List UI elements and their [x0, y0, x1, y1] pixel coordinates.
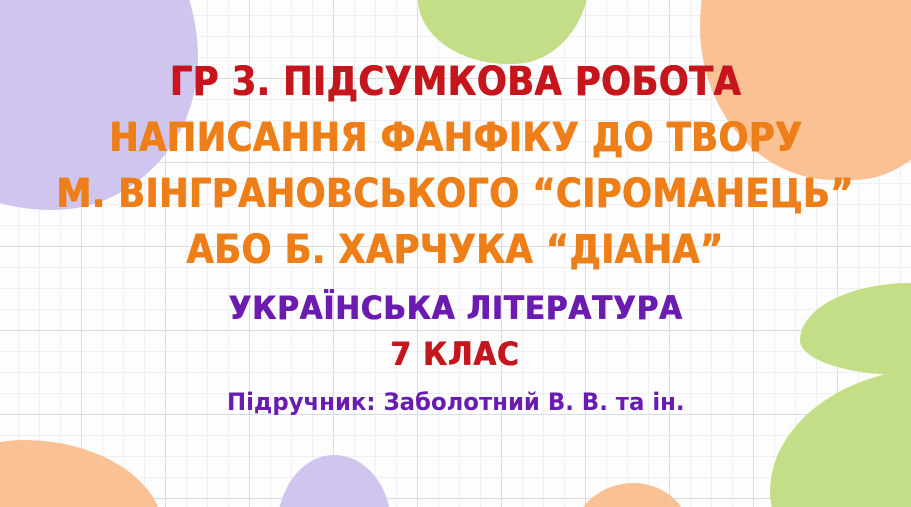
grade-label: 7 КЛАС	[391, 338, 520, 370]
subject-label: УКРАЇНСЬКА ЛІТЕРАТУРА	[228, 292, 682, 324]
title-line-1: ГР 3. ПІДСУМКОВА РОБОТА	[170, 62, 741, 102]
presentation-slide: ГР 3. ПІДСУМКОВА РОБОТА НАПИСАННЯ ФАНФІК…	[0, 0, 911, 507]
title-line-3: М. ВІНГРАНОВСЬКОГО “СІРОМАНЕЦЬ”	[57, 174, 855, 214]
title-line-2: НАПИСАННЯ ФАНФІКУ ДО ТВОРУ	[109, 118, 802, 158]
slide-content: ГР 3. ПІДСУМКОВА РОБОТА НАПИСАННЯ ФАНФІК…	[0, 0, 911, 507]
textbook-label: Підручник: Заболотний В. В. та ін.	[227, 390, 685, 414]
title-line-4: АБО Б. ХАРЧУКА “ДІАНА”	[187, 230, 724, 270]
